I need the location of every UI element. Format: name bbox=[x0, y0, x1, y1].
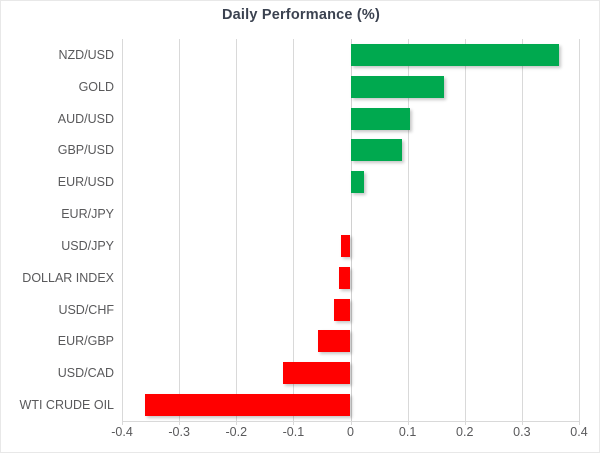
x-axis-label: 0.1 bbox=[399, 425, 416, 439]
bar-usd-cad bbox=[283, 362, 350, 384]
bar-usd-jpy bbox=[341, 235, 350, 257]
y-axis-label: WTI CRUDE OIL bbox=[1, 390, 114, 420]
bar-row bbox=[122, 358, 579, 388]
bar-dollar-index bbox=[339, 267, 351, 289]
bar-gold bbox=[351, 76, 444, 98]
y-axis-label: AUD/USD bbox=[1, 104, 114, 134]
plot-area bbox=[122, 39, 579, 421]
y-axis-labels: NZD/USDGOLDAUD/USDGBP/USDEUR/USDEUR/JPYU… bbox=[1, 39, 114, 421]
y-axis-label: NZD/USD bbox=[1, 40, 114, 70]
y-axis-label: GBP/USD bbox=[1, 135, 114, 165]
x-axis-label: -0.4 bbox=[111, 425, 133, 439]
x-axis-label: 0.2 bbox=[456, 425, 473, 439]
x-axis-label: 0 bbox=[347, 425, 354, 439]
x-axis-label: 0.4 bbox=[570, 425, 587, 439]
x-axis-labels: -0.4-0.3-0.2-0.100.10.20.30.4 bbox=[122, 425, 579, 445]
bar-row bbox=[122, 326, 579, 356]
chart-title: Daily Performance (%) bbox=[1, 7, 600, 23]
y-axis-label: EUR/USD bbox=[1, 167, 114, 197]
y-axis-label: USD/CAD bbox=[1, 358, 114, 388]
bar-row bbox=[122, 390, 579, 420]
bar-nzd-usd bbox=[351, 44, 560, 66]
y-axis-label: EUR/JPY bbox=[1, 199, 114, 229]
x-axis-label: 0.3 bbox=[513, 425, 530, 439]
bar-row bbox=[122, 231, 579, 261]
gridline bbox=[579, 39, 580, 421]
y-axis-label: EUR/GBP bbox=[1, 326, 114, 356]
bar-usd-chf bbox=[334, 299, 351, 321]
bar-row bbox=[122, 135, 579, 165]
y-axis-label: USD/JPY bbox=[1, 231, 114, 261]
bar-aud-usd bbox=[351, 108, 411, 130]
bar-gbp-usd bbox=[351, 139, 403, 161]
bar-row bbox=[122, 263, 579, 293]
bar-row bbox=[122, 104, 579, 134]
bar-row bbox=[122, 199, 579, 229]
y-axis-label: USD/CHF bbox=[1, 295, 114, 325]
y-axis-label: DOLLAR INDEX bbox=[1, 263, 114, 293]
x-axis-label: -0.3 bbox=[168, 425, 190, 439]
daily-performance-chart: Daily Performance (%) NZD/USDGOLDAUD/USD… bbox=[0, 0, 600, 453]
bar-eur-gbp bbox=[318, 330, 351, 352]
bars-layer bbox=[122, 39, 579, 421]
bar-row bbox=[122, 167, 579, 197]
bar-eur-usd bbox=[351, 171, 364, 193]
bar-wti-crude-oil bbox=[145, 394, 351, 416]
bar-row bbox=[122, 295, 579, 325]
bar-row bbox=[122, 72, 579, 102]
x-axis-label: -0.1 bbox=[283, 425, 305, 439]
x-axis-label: -0.2 bbox=[225, 425, 247, 439]
bar-row bbox=[122, 40, 579, 70]
y-axis-label: GOLD bbox=[1, 72, 114, 102]
